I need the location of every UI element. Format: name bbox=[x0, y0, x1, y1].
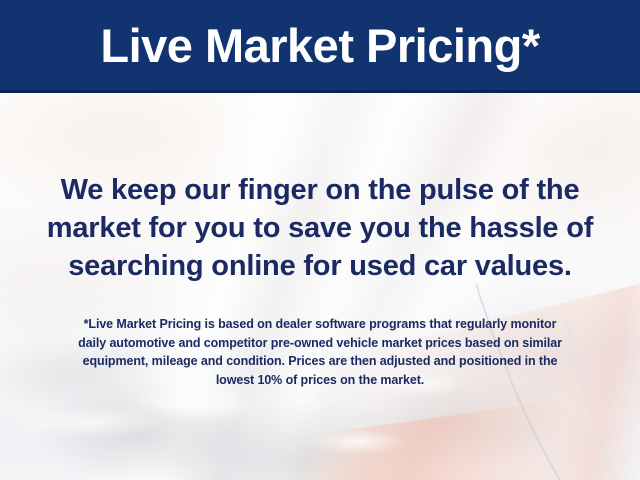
disclaimer-line: lowest 10% of prices on the market. bbox=[22, 371, 618, 390]
disclaimer-line: equipment, mileage and condition. Prices… bbox=[22, 352, 618, 371]
header-bar: Live Market Pricing* bbox=[0, 0, 640, 93]
content-area: We keep our finger on the pulse of the m… bbox=[0, 93, 640, 480]
disclaimer-line: daily automotive and competitor pre-owne… bbox=[22, 334, 618, 353]
headline-line: We keep our finger on the pulse of the bbox=[20, 171, 620, 209]
page-title: Live Market Pricing* bbox=[100, 22, 539, 72]
disclaimer-line: *Live Market Pricing is based on dealer … bbox=[22, 315, 618, 334]
disclaimer-text: *Live Market Pricing is based on dealer … bbox=[22, 315, 618, 389]
live-market-pricing-banner: Live Market Pricing* We keep our finger … bbox=[0, 0, 640, 480]
headline: We keep our finger on the pulse of the m… bbox=[20, 171, 620, 285]
headline-line: searching online for used car values. bbox=[20, 247, 620, 285]
headline-line: market for you to save you the hassle of bbox=[20, 209, 620, 247]
